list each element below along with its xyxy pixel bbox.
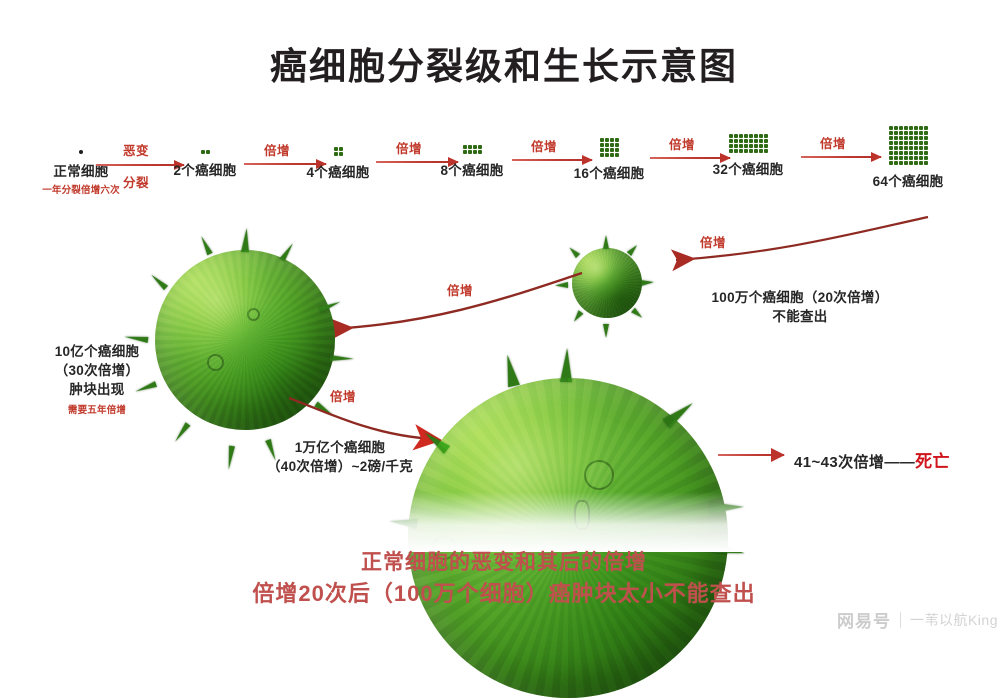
watermark-username: 一苇以航King <box>910 610 998 630</box>
label-death: 41~43次倍增——死亡 <box>794 447 950 472</box>
arrow-curve-to-medium-cell <box>300 265 590 345</box>
arrow-label-malignant: 恶变 <box>123 140 149 159</box>
diagram-canvas: 癌细胞分裂级和生长示意图 正常细胞 一年分裂倍增六次 恶变 分裂 2个癌细胞 倍… <box>0 0 1008 638</box>
caption-line-2: 倍增20次后（100万个细胞）癌肿块太小不能查出 <box>0 578 1008 609</box>
stage-label: 4个癌细胞 <box>288 161 388 181</box>
label-death-text: 41~43次倍增—— <box>794 454 915 471</box>
label-large-cell-line1: 1万亿个癌细胞 <box>295 440 386 455</box>
stage-label: 2个癌细胞 <box>152 159 258 179</box>
cell-large-bottom-fade <box>380 492 760 552</box>
cell-cluster-8 <box>420 145 524 154</box>
arrow-label-to-small-cell: 倍增 <box>700 232 726 251</box>
caption-line-1: 正常细胞的恶变和其后的倍增 <box>0 548 1008 578</box>
label-small-cell-line2: 不能查出 <box>772 309 827 324</box>
cell-cluster-16 <box>556 138 662 157</box>
label-medium-cell-sublabel: 需要五年倍增 <box>68 405 126 416</box>
stage-label: 64个癌细胞 <box>848 170 968 190</box>
arrow-label-split: 分裂 <box>123 172 149 191</box>
label-medium-cell-line3: 肿块出现 <box>69 382 124 397</box>
arrow-label-doubling-4: 倍增 <box>669 134 695 153</box>
watermark: 网易号 一苇以航King <box>837 607 998 632</box>
stage-node-8-cells: 8个癌细胞 <box>420 145 524 179</box>
stage-node-16-cells: 16个癌细胞 <box>556 138 662 182</box>
arrow-label-doubling-3: 倍增 <box>531 136 557 155</box>
cell-cluster-32 <box>695 134 801 153</box>
arrow-label-doubling-2: 倍增 <box>396 138 422 157</box>
bottom-caption: 正常细胞的恶变和其后的倍增 倍增20次后（100万个细胞）癌肿块太小不能查出 <box>0 548 1008 609</box>
arrow-label-to-medium-cell: 倍增 <box>447 280 473 299</box>
stage-label: 8个癌细胞 <box>420 159 524 179</box>
watermark-divider <box>900 612 901 628</box>
arrow-label-doubling-5: 倍增 <box>820 133 846 152</box>
label-small-cell: 100万个癌细胞（20次倍增） 不能查出 <box>640 288 960 326</box>
stage-node-2-cells: 2个癌细胞 <box>152 150 258 179</box>
label-medium-cell-line2: （30次倍增） <box>55 363 140 378</box>
stage-sublabel: 一年分裂倍增六次 <box>28 182 134 196</box>
cell-cluster-64 <box>848 126 968 165</box>
stage-node-32-cells: 32个癌细胞 <box>695 134 801 178</box>
stage-label: 32个癌细胞 <box>695 158 801 178</box>
label-medium-cell: 10亿个癌细胞 （30次倍增） 肿块出现 需要五年倍增 <box>22 342 172 420</box>
label-death-word: 死亡 <box>915 452 950 471</box>
label-large-cell-line2: （40次倍增）~2磅/千克 <box>267 459 413 474</box>
label-medium-cell-line1: 10亿个癌细胞 <box>55 344 140 359</box>
arrow-head <box>771 448 785 462</box>
label-large-cell: 1万亿个癌细胞 （40次倍增）~2磅/千克 <box>225 438 455 476</box>
stage-node-64-cells: 64个癌细胞 <box>848 126 968 190</box>
cell-cluster-4 <box>288 147 388 156</box>
stage-node-4-cells: 4个癌细胞 <box>288 147 388 181</box>
stage-node-normal-cell: 正常细胞 一年分裂倍增六次 <box>28 150 134 196</box>
cell-cluster-1 <box>79 150 83 154</box>
cell-cluster-2 <box>152 150 258 154</box>
arrow-label-doubling-1: 倍增 <box>264 140 290 159</box>
label-small-cell-line1: 100万个癌细胞（20次倍增） <box>711 290 888 305</box>
page-title: 癌细胞分裂级和生长示意图 <box>0 36 1008 90</box>
arrow-label-to-large-cell: 倍增 <box>330 386 356 405</box>
stage-label: 16个癌细胞 <box>556 162 662 182</box>
arrow-to-death <box>718 450 784 460</box>
watermark-brand: 网易号 <box>837 607 891 632</box>
